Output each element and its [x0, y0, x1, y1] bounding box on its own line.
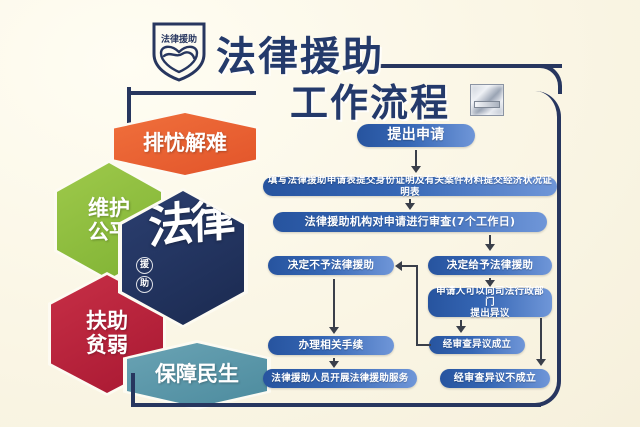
arrow-procedure-to-service	[329, 361, 339, 368]
arrow-objection-to-invalid	[536, 359, 546, 366]
flow-box-objection-line1: 申请人可以向司法行政部门	[432, 286, 548, 308]
flow-box-objection[interactable]: 申请人可以向司法行政部门 提出异议	[428, 288, 552, 317]
connector-deny-to-procedure	[333, 279, 335, 328]
decorative-glass-plate	[470, 84, 504, 116]
connector-valid-up	[416, 265, 418, 346]
shield-heart-icon: 法律援助	[150, 20, 208, 82]
arrow-fill-to-review	[405, 203, 415, 210]
frame-bottom-line	[133, 403, 541, 407]
connector-objection-to-invalid	[540, 318, 542, 360]
hex-left-line1: 维护	[88, 197, 130, 221]
flow-box-fill-form[interactable]: 填写法律援助申请表提交身份证明及有关案件材料提交经济状况证明表	[263, 177, 557, 196]
arrow-apply-to-fill	[411, 166, 421, 173]
seal-char-zhu: 助	[136, 276, 153, 293]
svg-text:法律援助: 法律援助	[161, 33, 197, 45]
flow-box-review[interactable]: 法律援助机构对申请进行审查(7个工作日)	[273, 212, 547, 232]
hex-red-line2: 贫弱	[86, 334, 128, 358]
connector-valid-left	[416, 344, 431, 346]
poster-header: 法律援助 法律援助 工作流程	[0, 0, 640, 120]
arrow-objection-to-valid	[456, 326, 466, 333]
connector-apply-to-fill	[415, 150, 417, 167]
seal-char-yuan: 援	[136, 257, 153, 274]
flow-box-apply[interactable]: 提出申请	[357, 124, 475, 147]
flow-box-service[interactable]: 法律援助人员开展法律援助服务	[263, 369, 417, 388]
hex-red-line1: 扶助	[86, 310, 128, 334]
flow-box-objection-invalid[interactable]: 经审查异议不成立	[440, 369, 550, 388]
flow-box-objection-line2: 提出异议	[432, 308, 548, 319]
flow-box-grant[interactable]: 决定给予法律援助	[428, 256, 552, 275]
arrow-grant-to-objection	[485, 280, 495, 287]
frame-bottom-left-segment	[131, 373, 135, 407]
poster-canvas: 法律援助 法律援助 工作流程 排忧解难 维护 公平 扶助 贫弱 保障民生 法律 …	[0, 0, 640, 427]
flow-box-procedure[interactable]: 办理相关手续	[268, 336, 394, 355]
seal-yuanzhu: 援 助	[136, 257, 152, 295]
flow-box-deny[interactable]: 决定不予法律援助	[268, 256, 394, 275]
arrow-review-to-grant	[485, 244, 495, 251]
flow-box-objection-valid[interactable]: 经审查异议成立	[429, 336, 525, 354]
page-subtitle: 工作流程	[290, 72, 450, 127]
connector-valid-to-deny	[402, 265, 418, 267]
arrow-deny-to-procedure	[329, 327, 339, 334]
arrow-valid-to-deny	[395, 261, 402, 271]
